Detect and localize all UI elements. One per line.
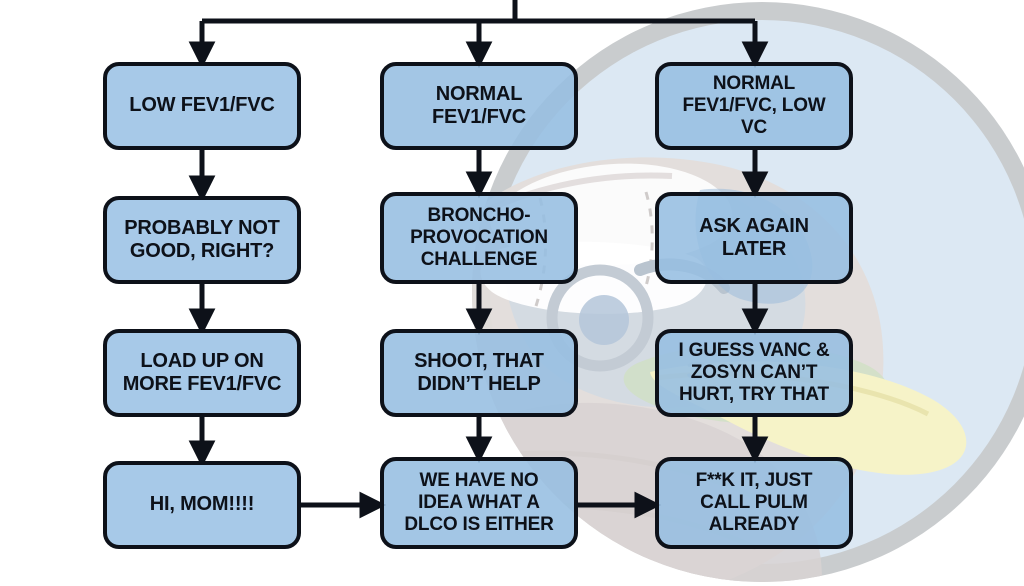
node-normal-fev1-fvc[interactable]: NORMAL FEV1/FVC <box>380 62 578 150</box>
watermark-bird-cap-seam-2 <box>640 192 652 304</box>
node-ask-again-later[interactable]: ASK AGAIN LATER <box>655 192 853 284</box>
node-broncho-provocation-challenge[interactable]: BRONCHO- PROVOCATION CHALLENGE <box>380 192 578 284</box>
node-vanc-and-zosyn[interactable]: I GUESS VANC & ZOSYN CAN’T HURT, TRY THA… <box>655 329 853 417</box>
node-load-up-on-more[interactable]: LOAD UP ON MORE FEV1/FVC <box>103 329 301 417</box>
node-no-idea-dlco[interactable]: WE HAVE NO IDEA WHAT A DLCO IS EITHER <box>380 457 578 549</box>
node-low-fev1-fvc[interactable]: LOW FEV1/FVC <box>103 62 301 150</box>
flowchart-canvas: LOW FEV1/FVC NORMAL FEV1/FVC NORMAL FEV1… <box>0 0 1024 586</box>
node-shoot-didnt-help[interactable]: SHOOT, THAT DIDN’T HELP <box>380 329 578 417</box>
node-normal-fev1-fvc-low-vc[interactable]: NORMAL FEV1/FVC, LOW VC <box>655 62 853 150</box>
watermark-bird-eye <box>579 295 629 345</box>
node-probably-not-good[interactable]: PROBABLY NOT GOOD, RIGHT? <box>103 196 301 284</box>
node-hi-mom[interactable]: HI, MOM!!!! <box>103 461 301 549</box>
node-call-pulm-already[interactable]: F**K IT, JUST CALL PULM ALREADY <box>655 457 853 549</box>
